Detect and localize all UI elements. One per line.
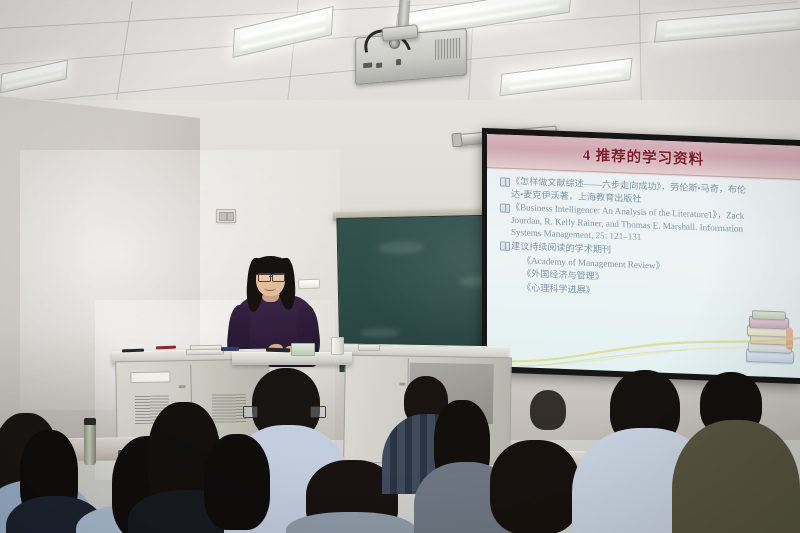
cabinet-vent: [212, 394, 246, 423]
projected-slide: 4 推荐的学习资料 《怎样做文献综述——六步走向成功》，劳伦斯•马奇，布伦 达•…: [487, 134, 800, 378]
outlet-socket: [219, 212, 227, 221]
glasses-lens: [272, 273, 285, 282]
stacked-book: [358, 344, 380, 351]
book-bullet-icon: [500, 203, 510, 212]
book-bullet-icon: [500, 177, 510, 186]
flask-cap: [84, 418, 96, 425]
book-bullet-icon: [500, 242, 510, 251]
student-head: [204, 434, 270, 530]
screen-roller-cap: [451, 133, 462, 148]
glasses-lens: [258, 273, 271, 282]
marker-pen: [221, 347, 239, 351]
student-head: [490, 440, 580, 533]
marker-pen: [266, 348, 290, 353]
chalk-smudge: [378, 241, 424, 254]
stacked-book: [186, 349, 224, 356]
cabinet-handle[interactable]: [399, 383, 405, 386]
glasses-frame: [243, 406, 258, 418]
chalk-smudge: [360, 328, 400, 338]
cabinet-label: [130, 371, 170, 383]
outlet-switch: [227, 212, 234, 221]
paper-cup: [331, 337, 344, 355]
presenter-smile: [264, 285, 276, 291]
slide-body: 《怎样做文献综述——六步走向成功》，劳伦斯•马奇，布伦 达•麦克伊沃著，上海教育…: [500, 174, 792, 304]
green-box: [291, 343, 315, 356]
glasses-bridge: [269, 276, 272, 277]
student-head: [530, 390, 566, 430]
projector-vent: [435, 38, 461, 60]
clipart-book: [752, 310, 786, 320]
cabinet-handle[interactable]: [179, 385, 186, 388]
wall-mounted-light: [298, 279, 320, 290]
classroom-photo: 4 推荐的学习资料 《怎样做文献综述——六步走向成功》，劳伦斯•马奇，布伦 达•…: [0, 0, 800, 533]
wall-outlet-plate[interactable]: [216, 209, 236, 223]
vacuum-flask: [84, 423, 96, 465]
glasses-frame: [310, 406, 326, 418]
